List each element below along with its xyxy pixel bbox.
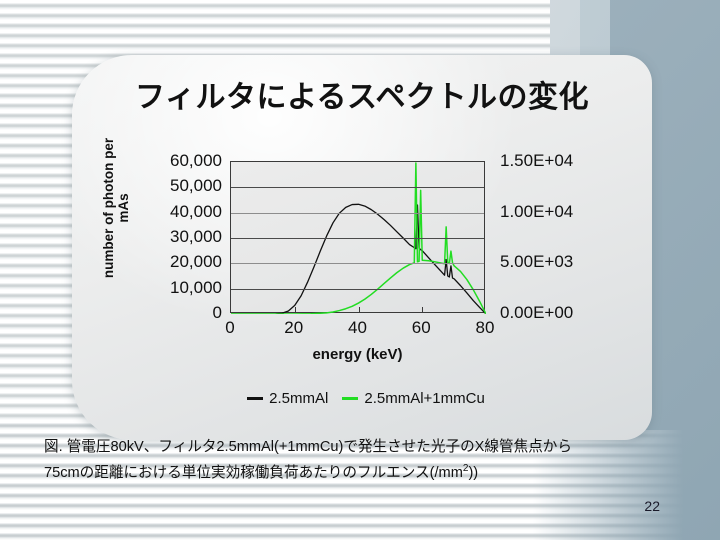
x-axis-tick-label: 40 xyxy=(348,318,367,338)
page-number: 22 xyxy=(644,498,660,514)
y-axis-title: number of photon per mAs xyxy=(101,128,131,288)
x-axis-ticks: 020406080 xyxy=(230,318,485,342)
chart-legend: 2.5mmAl 2.5mmAl+1mmCu xyxy=(88,390,644,407)
caption-line-2-tail: )) xyxy=(468,465,478,481)
gridline xyxy=(231,263,484,264)
plot-area xyxy=(230,161,485,313)
y-axis-left-tick-label: 40,000 xyxy=(170,202,222,222)
y-axis-left-tick-label: 20,000 xyxy=(170,252,222,272)
spectrum-chart: number of photon per mAs 010,00020,00030… xyxy=(88,138,644,398)
gridline xyxy=(231,213,484,214)
legend-item-0: 2.5mmAl xyxy=(247,390,328,407)
figure-caption: 図. 管電圧80kV、フィルタ2.5mmAl(+1mmCu)で発生させた光子のX… xyxy=(44,437,684,484)
x-axis-tick-label: 20 xyxy=(284,318,303,338)
y-axis-right-tick-label: 1.00E+04 xyxy=(500,202,573,222)
y-axis-left-tick-label: 50,000 xyxy=(170,176,222,196)
page-title: フィルタによるスペクトルの変化 xyxy=(72,72,652,116)
x-axis-tick-mark xyxy=(295,307,296,313)
y-axis-left-tick-label: 10,000 xyxy=(170,278,222,298)
x-axis-tick-label: 0 xyxy=(225,318,234,338)
y-axis-right-tick-label: 5.00E+03 xyxy=(500,252,573,272)
legend-label-1: 2.5mmAl+1mmCu xyxy=(364,390,484,407)
gridline xyxy=(231,187,484,188)
gridline xyxy=(231,289,484,290)
caption-line-2: 75cmの距離における単位実効稼働負荷あたりのフルエンス(/mm2)) xyxy=(44,458,684,484)
caption-line-2-text: 75cmの距離における単位実効稼働負荷あたりのフルエンス(/mm xyxy=(44,465,463,481)
y-axis-left-ticks: 010,00020,00030,00040,00050,00060,000 xyxy=(130,152,228,312)
legend-label-0: 2.5mmAl xyxy=(269,390,328,407)
x-axis-title: energy (keV) xyxy=(230,346,485,363)
caption-line-1: 図. 管電圧80kV、フィルタ2.5mmAl(+1mmCu)で発生させた光子のX… xyxy=(44,437,684,458)
x-axis-tick-mark xyxy=(422,307,423,313)
y-axis-left-tick-label: 0 xyxy=(213,303,222,323)
y-axis-left-tick-label: 60,000 xyxy=(170,151,222,171)
y-axis-right-tick-label: 0.00E+00 xyxy=(500,303,573,323)
legend-item-1: 2.5mmAl+1mmCu xyxy=(342,390,484,407)
x-axis-tick-label: 60 xyxy=(412,318,431,338)
y-axis-left-tick-label: 30,000 xyxy=(170,227,222,247)
y-axis-right-ticks: 0.00E+005.00E+031.00E+041.50E+04 xyxy=(492,152,632,312)
y-axis-right-tick-label: 1.50E+04 xyxy=(500,151,573,171)
legend-swatch-line-icon xyxy=(342,397,358,400)
legend-swatch-line-icon xyxy=(247,397,263,400)
x-axis-tick-label: 80 xyxy=(476,318,495,338)
slide: フィルタによるスペクトルの変化 number of photon per mAs… xyxy=(0,0,720,540)
gridline xyxy=(231,238,484,239)
x-axis-tick-mark xyxy=(359,307,360,313)
